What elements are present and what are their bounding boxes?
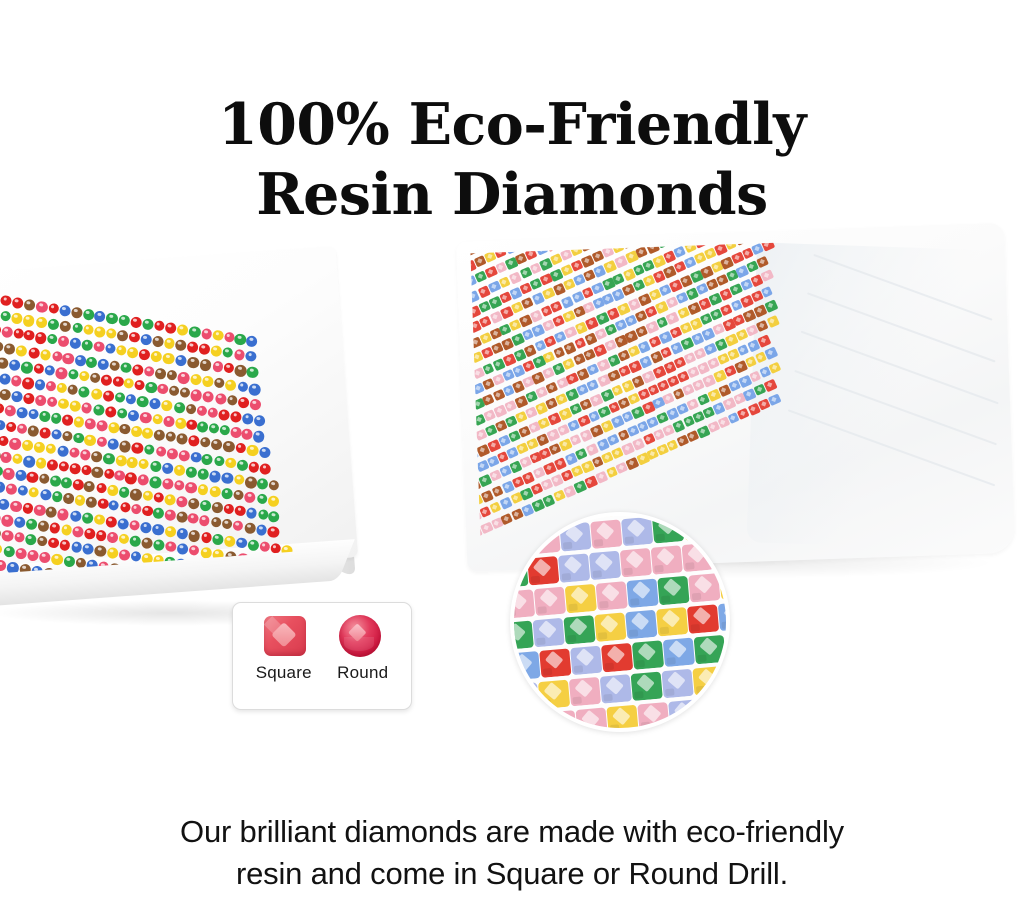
round-drill — [223, 363, 235, 375]
round-drill — [259, 540, 271, 552]
round-drill — [81, 339, 94, 352]
round-drill — [149, 476, 162, 489]
round-drill — [199, 546, 212, 559]
round-drill — [198, 515, 210, 527]
round-drill — [218, 409, 231, 422]
round-drill — [174, 480, 186, 492]
round-drill — [108, 500, 120, 512]
magnified-square-drill — [637, 702, 669, 732]
round-drill — [246, 351, 258, 363]
magnified-square-drill — [621, 517, 653, 547]
round-drill — [47, 318, 60, 331]
round-drill — [144, 365, 156, 377]
round-drill — [164, 322, 177, 335]
magnified-square-drill — [625, 610, 657, 640]
round-drill — [118, 533, 129, 544]
magnified-square-drill — [570, 646, 602, 676]
magnified-square-drill — [661, 669, 693, 699]
round-drill — [107, 422, 119, 434]
round-drill — [0, 435, 9, 447]
round-drill — [201, 453, 214, 466]
round-drill — [28, 409, 40, 421]
round-drill — [39, 426, 51, 438]
round-drill — [214, 377, 226, 389]
round-drill — [151, 523, 164, 536]
round-drill — [212, 361, 224, 373]
round-drill — [39, 473, 50, 484]
round-drill — [0, 373, 11, 385]
round-drill — [177, 527, 189, 539]
caption-line-2: resin and come in Square or Round Drill. — [0, 853, 1024, 895]
round-drill — [74, 354, 86, 366]
round-drill — [15, 469, 27, 481]
round-drill — [0, 560, 7, 572]
round-drill — [46, 459, 59, 472]
round-drill — [242, 428, 254, 440]
round-drill — [107, 437, 119, 449]
round-drill — [15, 344, 28, 357]
round-drill — [137, 474, 150, 487]
magnified-square-drill — [596, 581, 628, 611]
round-drill — [126, 347, 139, 360]
round-drill — [67, 368, 79, 380]
round-drill — [58, 398, 70, 410]
round-drill — [267, 526, 280, 539]
magnified-square-drill — [729, 725, 730, 732]
round-drill — [131, 363, 144, 376]
round-drill — [130, 488, 143, 501]
round-drill — [197, 421, 209, 433]
square-drill-grid — [470, 239, 900, 561]
magnified-square-drill — [510, 589, 535, 619]
round-drill — [185, 403, 197, 415]
magnified-square-drill — [683, 512, 715, 541]
round-drill — [23, 299, 36, 312]
round-drill — [33, 441, 46, 454]
round-drill — [8, 359, 21, 372]
magnified-square-drill — [663, 638, 695, 668]
round-drill — [188, 435, 200, 447]
round-drill — [176, 433, 188, 445]
round-drill — [1, 530, 14, 543]
round-drill — [173, 401, 186, 414]
round-drill — [97, 498, 109, 510]
round-drill — [152, 335, 165, 348]
round-drill — [149, 397, 162, 410]
magnified-square-drill — [632, 640, 664, 670]
round-drill — [58, 461, 70, 473]
round-drill — [28, 346, 41, 359]
round-drill — [224, 378, 237, 391]
round-drill — [72, 322, 84, 334]
round-drill — [44, 365, 56, 377]
round-drill — [152, 539, 165, 552]
square-drill — [574, 337, 586, 349]
round-drill — [140, 537, 153, 550]
magnified-square-drill — [620, 548, 652, 578]
round-drill — [0, 498, 10, 511]
round-drill — [16, 407, 29, 420]
round-drill — [165, 431, 177, 443]
round-drill — [60, 524, 72, 536]
round-drill — [187, 357, 200, 370]
round-drill — [188, 326, 201, 339]
round-drill — [23, 314, 36, 327]
round-drill — [248, 460, 260, 472]
round-drill — [82, 308, 95, 321]
round-drill-grid — [0, 251, 320, 577]
magnified-square-drill — [510, 682, 539, 712]
round-drill — [72, 479, 84, 491]
round-drill — [51, 553, 64, 566]
round-drill — [129, 519, 140, 530]
round-drill — [210, 517, 221, 528]
round-drill — [26, 471, 39, 484]
round-drill — [160, 462, 173, 475]
round-drill-icon — [339, 615, 381, 657]
round-drill-tray — [0, 268, 376, 624]
round-drill — [45, 380, 57, 392]
round-drill — [69, 400, 82, 413]
round-drill — [97, 358, 110, 371]
square-drill — [543, 351, 556, 363]
round-drill — [189, 388, 202, 401]
round-drill — [118, 439, 131, 452]
round-drill — [0, 451, 12, 463]
headline-line-1: 100% Eco-Friendly — [218, 91, 806, 158]
page-title: 100% Eco-Friendly Resin Diamonds — [0, 90, 1024, 230]
round-drill — [32, 363, 44, 375]
round-drill — [102, 452, 115, 465]
round-drill — [37, 520, 49, 532]
round-drill — [71, 525, 84, 538]
round-drill — [248, 382, 261, 395]
round-drill — [3, 545, 16, 558]
round-drill — [104, 343, 116, 355]
round-drill — [39, 489, 52, 502]
round-drill — [164, 337, 176, 349]
round-drill — [223, 347, 235, 359]
round-drill — [235, 443, 247, 455]
round-drill — [247, 538, 260, 551]
round-drill — [81, 511, 94, 524]
round-drill — [0, 514, 13, 527]
round-drill — [94, 310, 107, 323]
round-drill — [246, 445, 259, 458]
round-drill — [77, 386, 90, 399]
round-drill — [82, 543, 95, 556]
round-drill — [187, 513, 199, 525]
magnified-square-drill — [527, 556, 559, 586]
magnified-square-drill — [688, 573, 720, 603]
magnified-square-drill — [534, 587, 566, 617]
round-drill — [202, 375, 214, 387]
magnifier-closeup — [510, 512, 730, 732]
round-drill — [61, 414, 73, 426]
magnified-square-drill — [590, 519, 622, 549]
round-drill — [133, 379, 145, 391]
round-drill — [165, 541, 177, 553]
magnified-square-drill — [606, 705, 638, 732]
round-drill — [221, 487, 234, 500]
round-drill — [105, 406, 118, 419]
round-drill — [128, 410, 141, 423]
headline-line-2: Resin Diamonds — [0, 160, 1024, 230]
round-drill — [15, 547, 27, 559]
round-drill — [187, 341, 199, 353]
round-drill — [16, 423, 28, 435]
round-drill — [153, 429, 166, 442]
magnified-square-drill — [694, 635, 726, 665]
round-drill — [246, 366, 259, 379]
round-drill — [207, 407, 219, 419]
round-drill — [212, 330, 224, 342]
round-drill — [164, 494, 177, 507]
round-drill — [68, 447, 80, 459]
round-drill — [164, 509, 176, 521]
round-drill — [123, 378, 134, 389]
round-drill — [48, 537, 60, 549]
magnified-square-drill — [569, 677, 601, 707]
round-drill — [51, 428, 63, 440]
round-drill — [95, 529, 107, 541]
round-drill — [140, 521, 152, 533]
round-drill — [168, 385, 179, 396]
round-drill — [10, 375, 22, 387]
round-drill — [71, 541, 83, 553]
round-drill — [234, 364, 247, 377]
round-drill — [267, 495, 280, 508]
round-drill — [208, 470, 221, 483]
magnified-square-drill — [682, 543, 714, 573]
magnified-square-drills — [510, 512, 730, 732]
round-drill — [230, 411, 243, 424]
round-drill — [11, 297, 24, 310]
round-drill — [201, 531, 213, 543]
round-drill — [155, 445, 167, 457]
round-drill — [129, 535, 142, 548]
round-drill — [50, 412, 62, 424]
caption-line-1: Our brilliant diamonds are made with eco… — [180, 814, 844, 849]
round-drill — [23, 392, 36, 405]
round-drill — [185, 466, 198, 479]
round-drill — [70, 306, 83, 319]
magnified-square-drill — [667, 731, 699, 732]
round-drill — [119, 502, 131, 514]
round-drill — [48, 522, 60, 534]
round-drill — [130, 504, 142, 516]
round-drill — [5, 421, 17, 433]
round-drill — [11, 390, 24, 403]
round-drill — [49, 475, 61, 487]
round-drill — [230, 426, 242, 438]
round-drill — [153, 320, 165, 332]
magnified-square-drill — [589, 551, 621, 581]
round-drill — [13, 328, 25, 340]
round-drill — [13, 532, 25, 544]
magnified-square-drill — [558, 553, 590, 583]
round-drill — [25, 518, 38, 531]
round-drill — [0, 295, 12, 307]
round-drill — [94, 545, 107, 558]
round-drill — [188, 529, 201, 542]
round-drill — [85, 496, 97, 508]
magnified-square-drill — [545, 710, 577, 732]
round-drill — [83, 527, 96, 540]
round-drill — [144, 381, 157, 394]
round-drill — [25, 533, 37, 545]
round-drill — [164, 525, 177, 538]
round-drill — [90, 450, 103, 463]
round-drill — [174, 355, 187, 368]
magnified-square-drill — [718, 602, 730, 632]
round-drill — [90, 388, 103, 401]
round-drill — [214, 392, 227, 405]
round-drill — [119, 424, 131, 436]
round-drill — [175, 417, 187, 429]
square-drill — [470, 239, 474, 241]
magnified-square-drill — [698, 728, 730, 732]
round-drill — [73, 432, 85, 444]
round-drill — [57, 507, 70, 520]
round-drill — [107, 484, 119, 496]
round-drill — [223, 331, 234, 342]
round-drill — [198, 343, 211, 356]
round-drill — [197, 468, 209, 480]
round-drill — [45, 443, 57, 455]
round-drill — [51, 491, 64, 504]
magnified-square-drill — [563, 615, 595, 645]
round-drill — [130, 426, 142, 438]
square-drill — [756, 256, 769, 268]
round-drill — [91, 466, 104, 479]
round-drill — [36, 535, 48, 547]
magnified-square-drill — [692, 666, 724, 696]
round-drill — [0, 544, 3, 556]
magnified-square-drill — [656, 607, 688, 637]
round-drill — [140, 333, 153, 346]
round-drill — [106, 531, 118, 543]
round-drill — [85, 356, 98, 369]
round-drill — [0, 389, 12, 401]
round-drill — [83, 324, 95, 336]
round-drill — [258, 447, 271, 460]
round-drill — [103, 468, 115, 480]
round-drill — [96, 482, 108, 494]
round-drill — [59, 539, 71, 551]
round-drill — [242, 413, 254, 425]
round-drill — [89, 372, 101, 384]
magnified-square-drill — [652, 514, 684, 544]
legend-labels: Square Round — [233, 659, 411, 683]
round-drill — [166, 447, 179, 460]
round-drill — [141, 506, 153, 518]
round-drill — [176, 542, 189, 555]
round-drill — [201, 328, 213, 340]
round-drill — [226, 394, 238, 406]
round-drill — [11, 312, 23, 324]
round-drill — [199, 437, 211, 449]
magnified-square-drill — [657, 576, 689, 606]
magnified-square-drill — [514, 713, 546, 732]
round-drill — [179, 387, 191, 399]
magnified-square-drill — [699, 697, 730, 727]
round-drill — [60, 320, 73, 333]
round-drill — [253, 430, 266, 443]
round-drill — [34, 504, 47, 517]
round-drill — [212, 533, 224, 545]
round-drill — [84, 434, 97, 447]
round-drill — [130, 316, 143, 329]
round-drill — [23, 330, 35, 342]
round-drill — [136, 395, 149, 408]
round-drill — [61, 477, 73, 489]
round-drill — [196, 405, 208, 417]
round-drill — [105, 515, 118, 528]
round-drill — [4, 405, 17, 418]
round-drill — [96, 436, 108, 448]
round-drill — [22, 377, 35, 390]
round-drill — [125, 393, 137, 405]
magnified-square-drill — [510, 621, 534, 651]
magnified-square-drill — [539, 648, 571, 678]
legend-label-round: Round — [337, 663, 388, 683]
round-drill — [20, 361, 33, 374]
round-drill — [3, 467, 16, 480]
round-drill — [131, 441, 144, 454]
round-drill — [153, 492, 165, 504]
round-drill — [106, 547, 119, 560]
round-drill — [175, 511, 188, 524]
drill-type-legend[interactable]: Square Round — [232, 602, 412, 710]
round-drill — [152, 507, 164, 519]
round-drill — [59, 304, 72, 317]
round-drill — [45, 505, 58, 518]
magnified-square-drill — [528, 525, 560, 555]
round-drill — [185, 481, 198, 494]
round-drill — [22, 455, 35, 468]
round-drill — [35, 316, 48, 329]
round-drill — [47, 396, 58, 407]
round-drill — [62, 352, 75, 365]
round-drill — [114, 392, 126, 404]
round-drill — [156, 383, 168, 395]
round-drill — [149, 460, 161, 472]
round-drill — [93, 341, 105, 353]
round-drill — [35, 394, 48, 407]
round-drill — [118, 549, 131, 562]
magnified-square-drill — [626, 578, 658, 608]
round-drill — [150, 351, 163, 364]
round-drill — [84, 480, 97, 493]
round-drill — [35, 301, 48, 314]
round-drill — [243, 522, 256, 535]
round-drill — [225, 457, 237, 469]
round-drill — [166, 369, 178, 381]
round-drill — [152, 414, 164, 426]
round-drill — [154, 367, 166, 379]
round-drill — [249, 398, 261, 410]
round-drill — [114, 470, 126, 482]
round-drill — [27, 549, 40, 562]
round-drill — [221, 519, 233, 531]
round-drill — [222, 441, 235, 454]
round-drill — [0, 326, 13, 339]
round-drill — [117, 408, 129, 420]
round-drill — [69, 337, 82, 350]
round-drill — [93, 326, 106, 339]
magnified-square-drill — [600, 674, 632, 704]
